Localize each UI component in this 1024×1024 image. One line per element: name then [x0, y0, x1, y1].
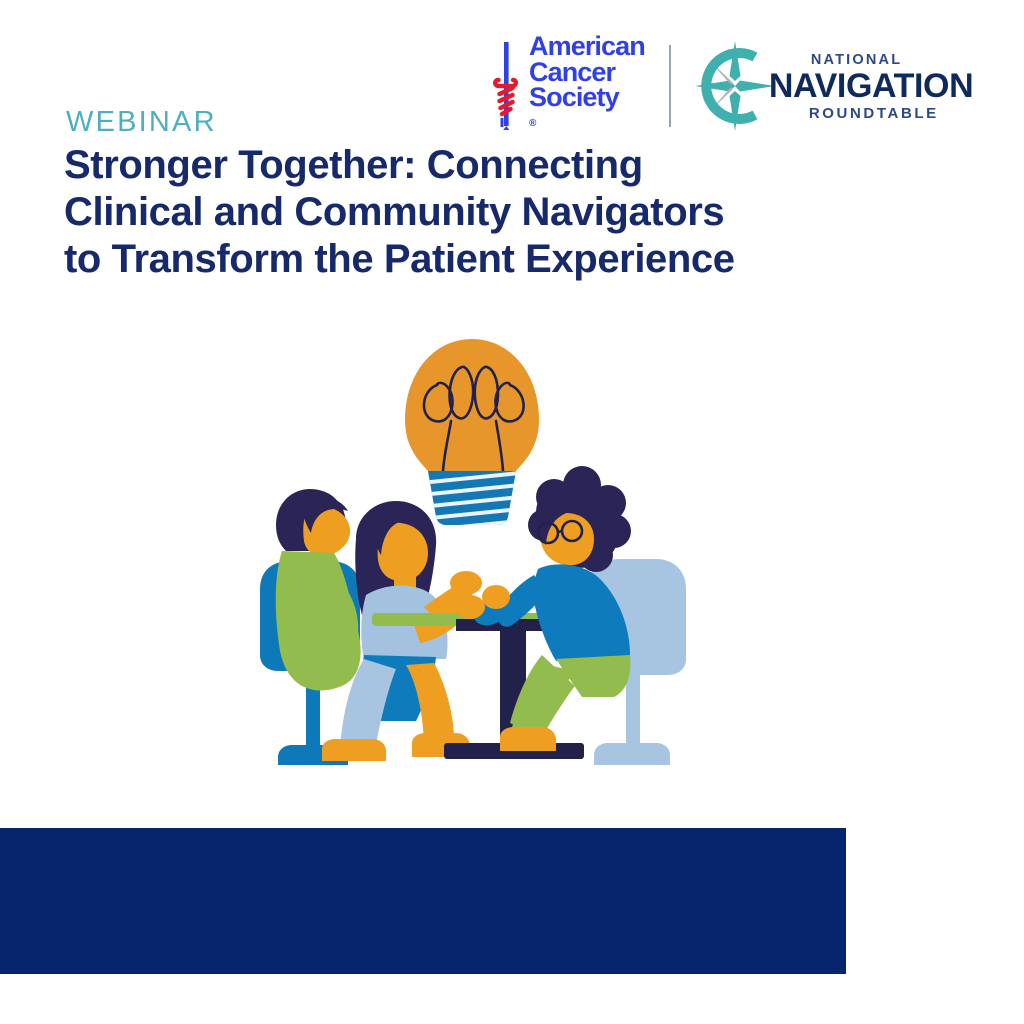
nnrt-line-roundtable: ROUNDTABLE: [809, 106, 973, 121]
nnrt-line-national: NATIONAL: [811, 53, 973, 68]
national-navigation-roundtable-logo: NATIONAL NAVIGATION ROUNDTABLE: [693, 36, 973, 136]
eyebrow-label: WEBINAR: [66, 106, 217, 139]
logo-divider: [669, 45, 671, 127]
acs-line-3-wrap: Society®: [529, 85, 645, 140]
nnrt-wordmark: NATIONAL NAVIGATION ROUNDTABLE: [769, 53, 973, 121]
acs-wordmark: American Cancer Society®: [529, 34, 645, 140]
three-people-at-table-with-lightbulb-illustration: [238, 325, 708, 790]
nnrt-line-navigation: NAVIGATION: [769, 69, 973, 103]
american-cancer-society-logo: American Cancer Society®: [490, 36, 645, 136]
lightbulb-icon: [405, 339, 539, 531]
logo-row: American Cancer Society® NATIONAL NAVIGA…: [490, 34, 940, 138]
bottom-banner-bar: [0, 828, 846, 974]
title-line-1: Stronger Together: Connecting: [64, 142, 914, 189]
title-line-3: to Transform the Patient Experience: [64, 236, 914, 283]
compass-star-icon: [693, 40, 777, 132]
acs-line-1: American: [529, 34, 645, 60]
registered-trademark-icon: ®: [529, 118, 536, 129]
page-title: Stronger Together: Connecting Clinical a…: [64, 142, 914, 283]
acs-line-3: Society: [529, 85, 645, 111]
sword-and-serpent-icon: [490, 40, 522, 132]
title-line-2: Clinical and Community Navigators: [64, 189, 914, 236]
person-left-green-shirt: [276, 489, 361, 691]
